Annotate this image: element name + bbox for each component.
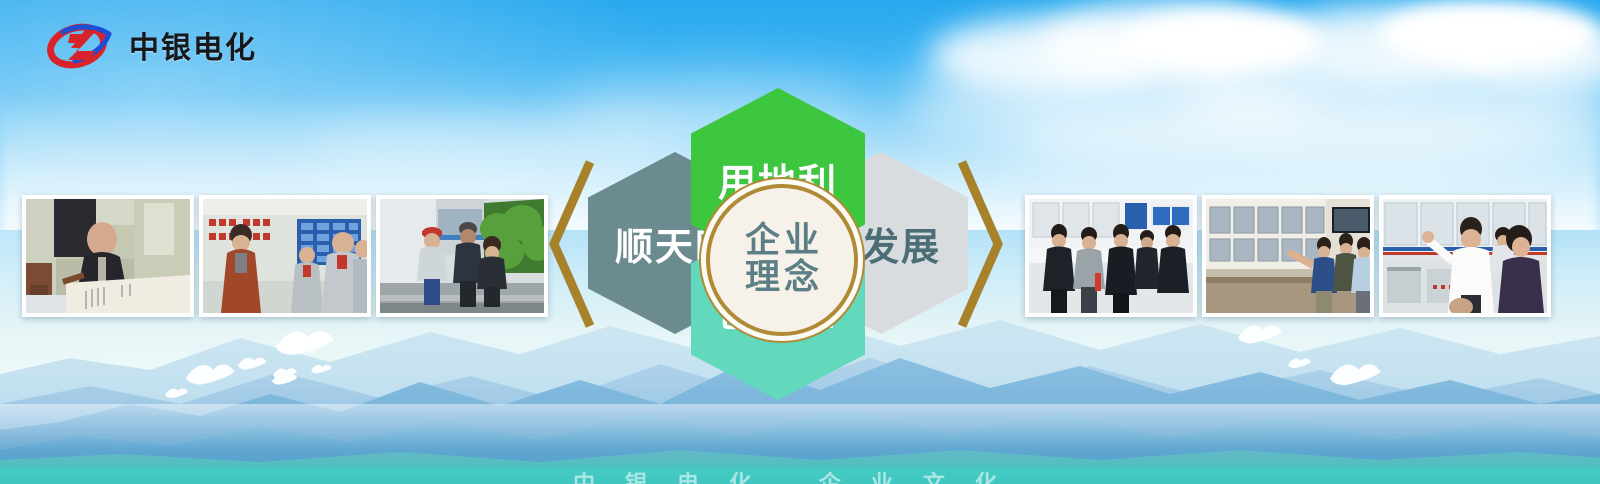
company-culture-banner: 中银电化 xyxy=(0,0,1600,484)
center-char-3: 理 xyxy=(745,260,780,297)
list-item[interactable] xyxy=(376,195,548,317)
photo-5-image xyxy=(1206,199,1370,313)
brand-logo[interactable]: 中银电化 xyxy=(47,20,257,70)
photo-6-image xyxy=(1383,199,1547,313)
photo-3-image xyxy=(380,199,544,313)
list-item[interactable] xyxy=(1379,195,1551,317)
list-item[interactable] xyxy=(1202,195,1374,317)
photo-2-image xyxy=(203,199,367,313)
center-char-1: 企 xyxy=(745,223,780,260)
bottom-accent-strip: 中银电化 企业文化 xyxy=(0,470,1600,484)
brand-name: 中银电化 xyxy=(129,23,257,67)
concept-hex-diagram: 顺天时 谋发展 创人和 用地利 企 业 理 念 xyxy=(548,88,1008,400)
center-char-4: 念 xyxy=(784,260,819,297)
list-item[interactable] xyxy=(22,195,194,317)
bottom-clipped-text: 中银电化 企业文化 xyxy=(0,470,1600,484)
zhongyin-swoosh-logo-icon xyxy=(47,20,115,70)
center-concept-circle[interactable]: 企 业 理 念 xyxy=(706,184,858,336)
center-char-2: 业 xyxy=(784,223,819,260)
photo-4-image xyxy=(1029,199,1193,313)
list-item[interactable] xyxy=(199,195,371,317)
list-item[interactable] xyxy=(1025,195,1197,317)
center-concept-label: 企 业 理 念 xyxy=(745,223,819,297)
photo-1-image xyxy=(26,199,190,313)
